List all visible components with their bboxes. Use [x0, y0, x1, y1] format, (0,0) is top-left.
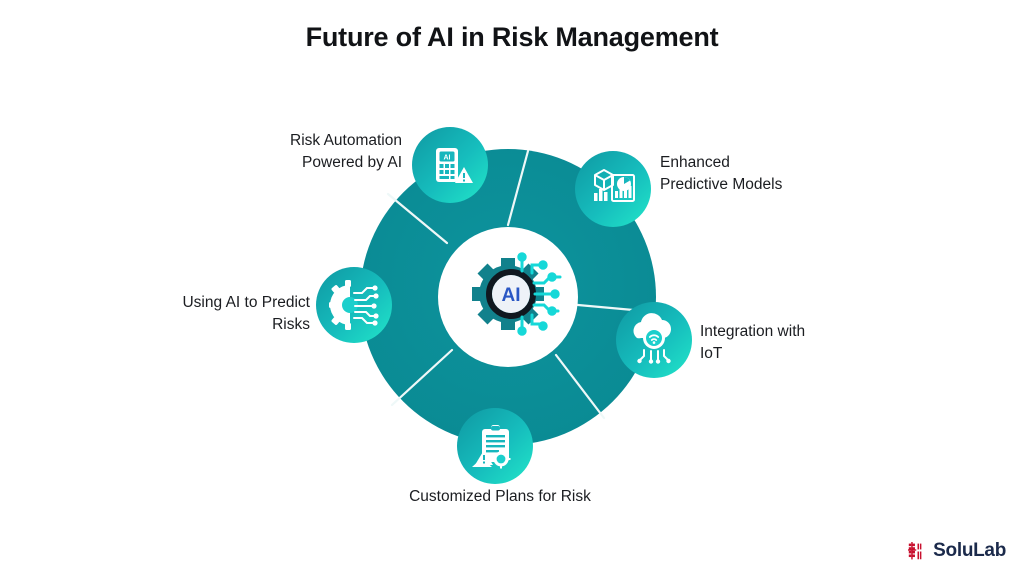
- ai-label: AI: [502, 285, 521, 306]
- node-bubble-customized-plans-for-risk[interactable]: [457, 408, 533, 484]
- infographic-canvas: Future of AI in Risk Management: [0, 0, 1024, 576]
- node-label-customized-plans-for-risk: Customized Plans for Risk: [340, 486, 660, 508]
- node-bubble-using-ai-to-predict-risks[interactable]: [316, 267, 392, 343]
- svg-text:AI: AI: [444, 154, 451, 161]
- solulab-mark-icon: [908, 542, 927, 561]
- logo-text: SoluLab: [933, 540, 1006, 562]
- diagram-stage: AI: [0, 0, 1024, 576]
- node-bubble-integration-with-iot[interactable]: [616, 302, 692, 378]
- node-label-risk-automation: Risk Automation Powered by AI: [192, 130, 402, 175]
- node-label-integration-with-iot: Integration with IoT: [700, 321, 900, 366]
- node-bubble-enhanced-predictive-models[interactable]: [575, 151, 651, 227]
- node-label-enhanced-predictive-models: Enhanced Predictive Models: [660, 152, 880, 197]
- node-bubble-risk-automation[interactable]: AI: [412, 127, 488, 203]
- node-label-using-ai-to-predict-risks: Using AI to Predict Risks: [110, 292, 310, 337]
- brand-logo[interactable]: SoluLab: [908, 540, 1006, 562]
